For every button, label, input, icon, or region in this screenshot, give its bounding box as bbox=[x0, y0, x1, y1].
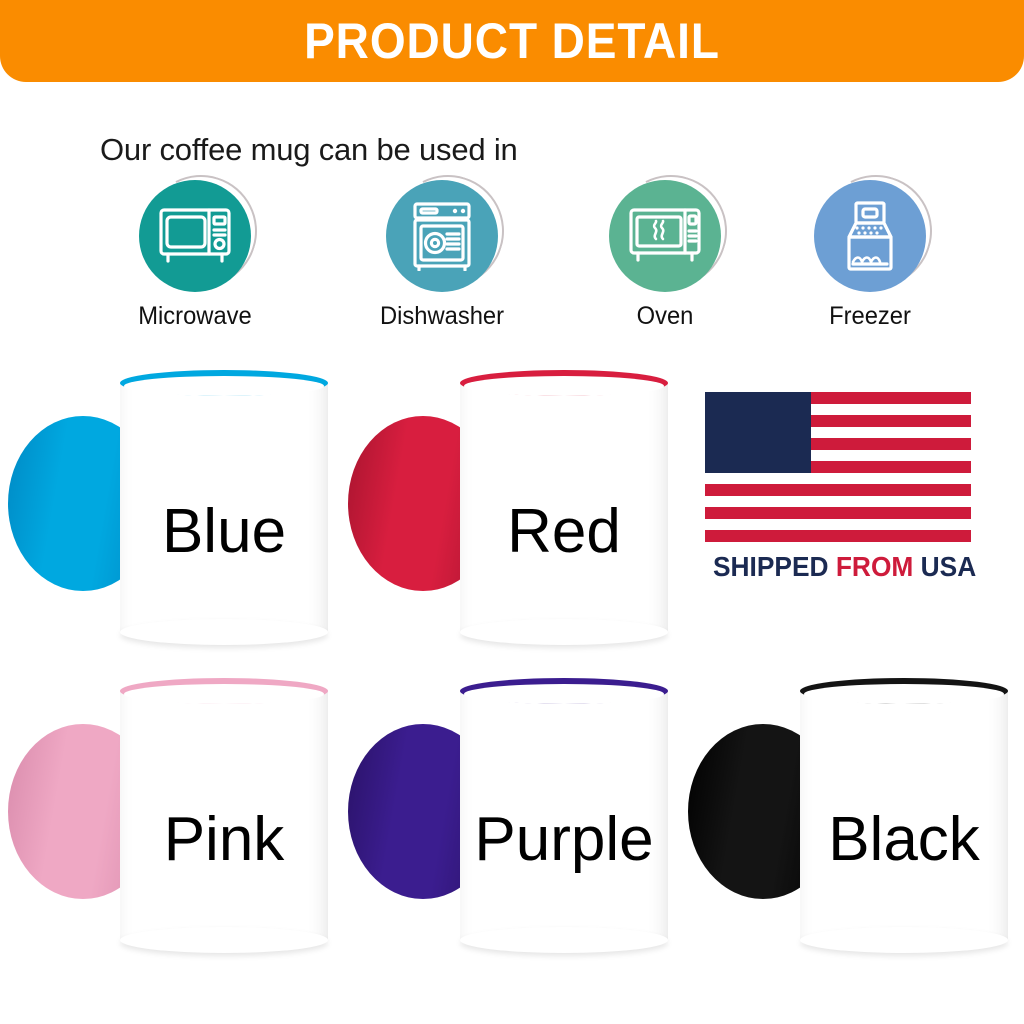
feature-label: Freezer bbox=[789, 302, 951, 331]
mug-base bbox=[120, 619, 328, 645]
mug-base bbox=[460, 619, 668, 645]
shipped-from-usa-text: SHIPPED FROM USA bbox=[713, 551, 963, 583]
flag-canton bbox=[705, 392, 811, 473]
mug-pink[interactable]: Pink bbox=[8, 676, 328, 948]
flag-stripe bbox=[705, 507, 971, 519]
mug-rim-interior bbox=[804, 684, 1004, 704]
flag-stripe bbox=[705, 484, 971, 496]
dishwasher-icon bbox=[386, 180, 498, 292]
mug-black[interactable]: Black bbox=[688, 676, 1008, 948]
mug-base bbox=[120, 927, 328, 953]
mug-base bbox=[800, 927, 1008, 953]
mug-blue[interactable]: Blue bbox=[8, 368, 328, 640]
feature-oven: Oven bbox=[580, 180, 750, 331]
mug-color-label: Pink bbox=[120, 804, 328, 875]
header-banner: PRODUCT DETAIL bbox=[0, 0, 1024, 82]
from-word: FROM bbox=[836, 551, 913, 582]
feature-freezer: Freezer bbox=[785, 180, 955, 331]
usage-subtitle: Our coffee mug can be used in bbox=[100, 132, 518, 168]
shipped-from-usa-badge: ★★★★★★★★★★★★★★★★★★★★★★★★★★★★★★★★★★★★★★★★… bbox=[705, 392, 971, 583]
feature-dishwasher: Dishwasher bbox=[357, 180, 527, 331]
shipped-word: SHIPPED bbox=[713, 551, 829, 582]
feature-microwave: Microwave bbox=[110, 180, 280, 331]
mug-red[interactable]: Red bbox=[348, 368, 668, 640]
mug-base bbox=[460, 927, 668, 953]
mug-rim-interior bbox=[464, 376, 664, 396]
mug-rim-interior bbox=[124, 376, 324, 396]
mug-purple[interactable]: Purple bbox=[348, 676, 668, 948]
united-states-flag: ★★★★★★★★★★★★★★★★★★★★★★★★★★★★★★★★★★★★★★★★… bbox=[705, 392, 971, 542]
flag-stripe bbox=[705, 530, 971, 542]
usage-feature-list: Microwave bbox=[0, 180, 1024, 340]
freezer-icon bbox=[814, 180, 926, 292]
page-title: PRODUCT DETAIL bbox=[304, 16, 720, 66]
feature-circle-wrap bbox=[814, 180, 926, 292]
feature-circle-wrap bbox=[386, 180, 498, 292]
feature-label: Microwave bbox=[114, 302, 276, 331]
feature-label: Oven bbox=[584, 302, 746, 331]
mug-color-label: Blue bbox=[120, 496, 328, 567]
usa-word: USA bbox=[921, 551, 977, 582]
oven-icon bbox=[609, 180, 721, 292]
mug-rim-interior bbox=[124, 684, 324, 704]
feature-circle-wrap bbox=[609, 180, 721, 292]
feature-label: Dishwasher bbox=[361, 302, 523, 331]
feature-circle-wrap bbox=[139, 180, 251, 292]
microwave-icon bbox=[139, 180, 251, 292]
mug-color-label: Red bbox=[460, 496, 668, 567]
mug-color-label: Black bbox=[800, 804, 1008, 875]
mug-rim-interior bbox=[464, 684, 664, 704]
mug-color-label: Purple bbox=[460, 804, 668, 875]
